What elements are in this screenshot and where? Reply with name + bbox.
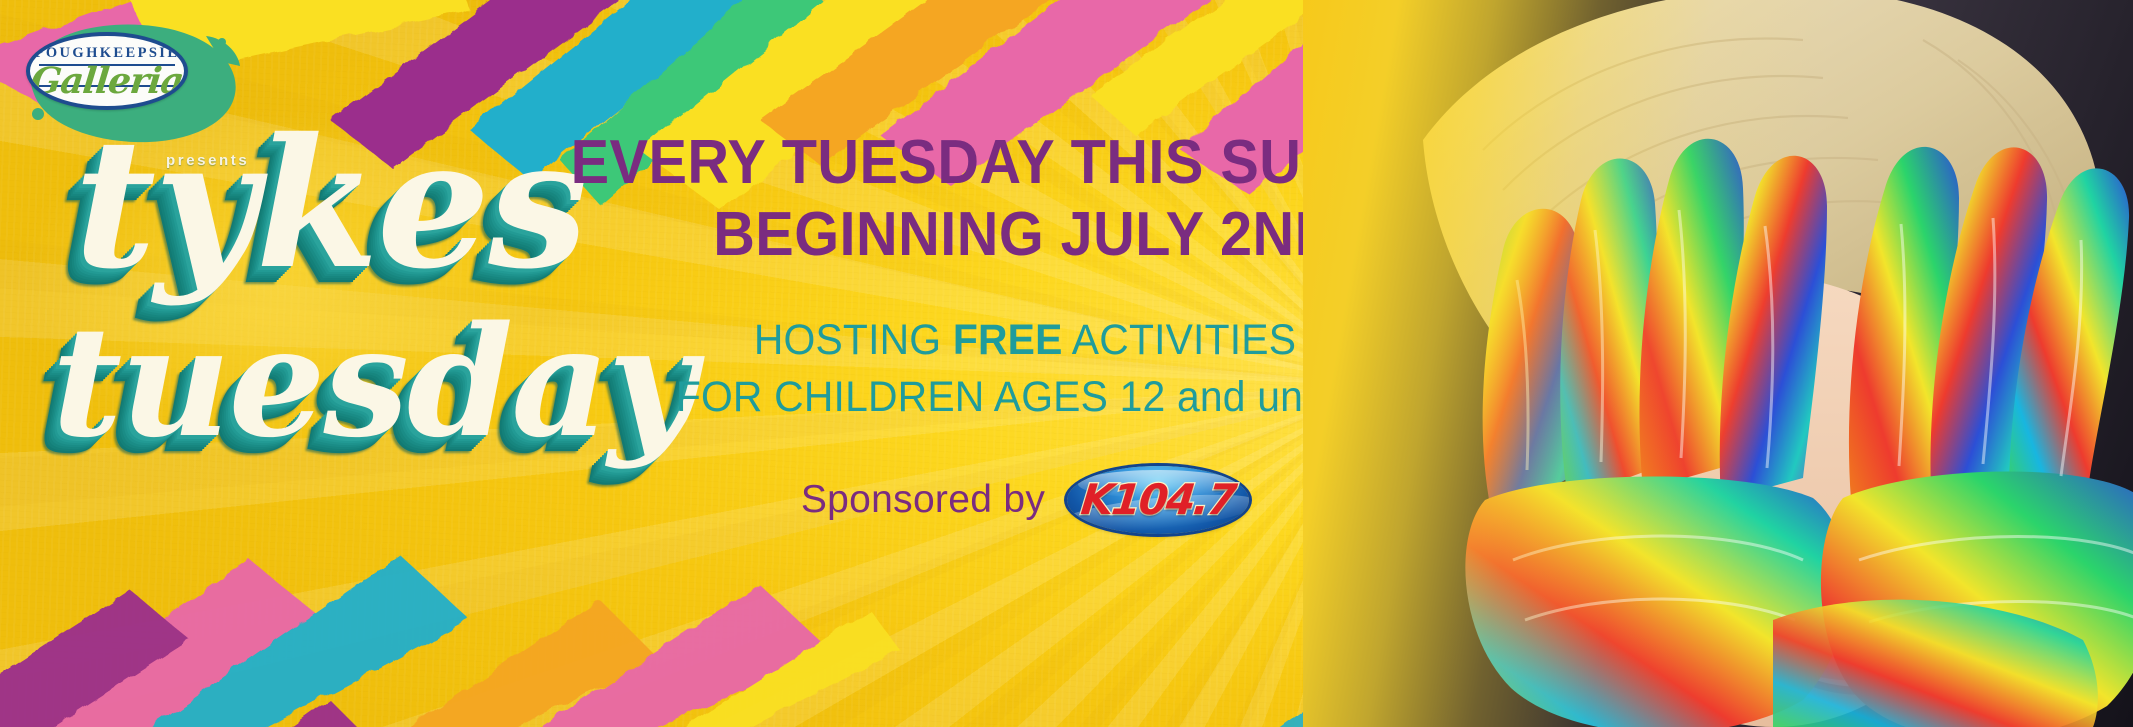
photo-illustration [1303,0,2133,727]
galleria-logo-script: Galleria [28,63,186,99]
sponsor-label: Sponsored by [801,478,1045,522]
subhead-suffix: ACTIVITIES [1063,316,1297,364]
child-paint-hands-photo [1303,0,2133,727]
k1047-logo[interactable]: K104.7 [1067,466,1249,534]
subhead-prefix: HOSTING [754,316,953,364]
tykes-tuesday-banner: POUGHKEEPSIE Galleria presents tykes tue… [0,0,2133,727]
k1047-station-name: K104.7 [1064,465,1253,533]
subhead-emphasis-free: FREE [953,316,1063,364]
